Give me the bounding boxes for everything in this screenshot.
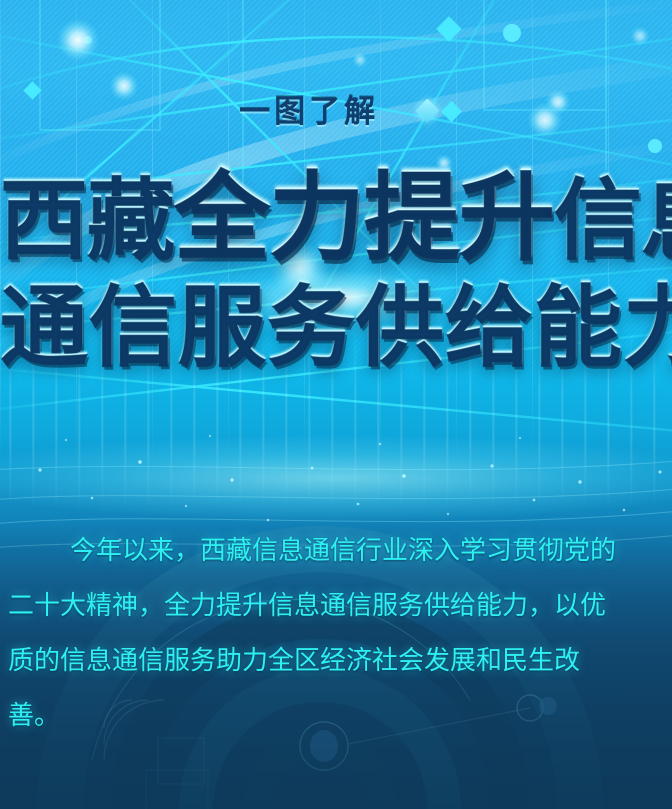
body-line-2: 二十大精神，全力提升信息通信服务供给能力，以优	[8, 579, 670, 634]
infographic-poster: 一图了解 西藏全力提升信息 通信服务供给能力 今年以来，西藏信息通信行业深入学习…	[0, 0, 672, 809]
kicker-label: 一图了解	[0, 86, 672, 131]
body-line-1: 今年以来，西藏信息通信行业深入学习贯彻党的	[8, 524, 670, 579]
body-line-4: 善。	[8, 689, 670, 744]
horizon-glow	[0, 418, 672, 538]
headline-suffix: 信息	[554, 169, 672, 272]
headline-line-2: 通信服务供给能力	[0, 284, 672, 372]
diamond-icon	[415, 99, 439, 123]
page-title: 西藏全力提升信息 通信服务供给能力	[0, 170, 672, 372]
headline-line-1: 西藏全力提升信息	[0, 170, 672, 266]
kicker-text: 一图了解	[239, 94, 379, 130]
body-paragraph: 今年以来，西藏信息通信行业深入学习贯彻党的 二十大精神，全力提升信息通信服务供给…	[8, 524, 670, 744]
headline-emphasis: 全力提升	[174, 162, 554, 274]
body-line-3: 质的信息通信服务助力全区经济社会发展和民生改	[8, 634, 670, 689]
headline-prefix: 西藏	[0, 169, 174, 272]
